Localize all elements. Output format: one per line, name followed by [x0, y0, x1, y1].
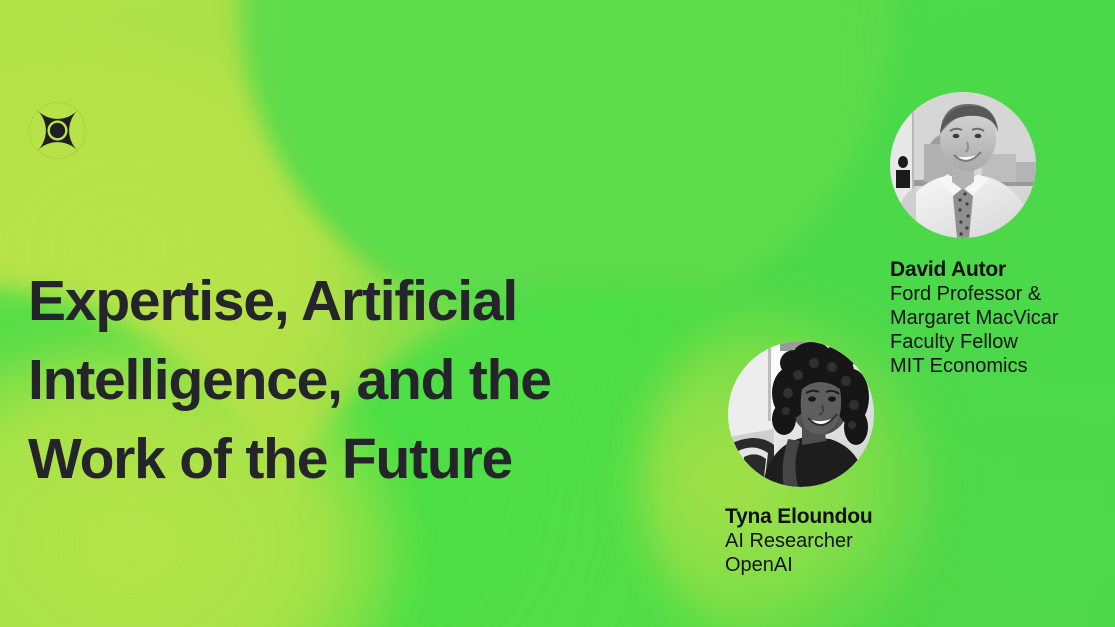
- speaker-meta-tyna-eloundou: Tyna Eloundou AI Researcher OpenAI: [725, 504, 874, 577]
- speaker-detail-3: Faculty Fellow: [890, 330, 1059, 354]
- avatar-david-autor: [890, 92, 1036, 238]
- title-line-1: Expertise, Artificial: [28, 262, 688, 341]
- speaker-detail-2: OpenAI: [725, 553, 874, 577]
- avatar-tyna-eloundou: [728, 341, 874, 487]
- speaker-meta-david-autor: David Autor Ford Professor & Margaret Ma…: [890, 257, 1059, 378]
- speaker-name: Tyna Eloundou: [725, 504, 874, 529]
- page-title: Expertise, Artificial Intelligence, and …: [28, 262, 688, 499]
- speaker-detail-1: AI Researcher: [725, 529, 874, 553]
- speaker-detail-4: MIT Economics: [890, 354, 1059, 378]
- speaker-detail-1: Ford Professor &: [890, 282, 1059, 306]
- speaker-name: David Autor: [890, 257, 1059, 282]
- speaker-card-david-autor: David Autor Ford Professor & Margaret Ma…: [888, 92, 1059, 378]
- four-petal-ring-logo-icon: [27, 100, 88, 161]
- title-line-3: Work of the Future: [28, 420, 688, 499]
- title-line-2: Intelligence, and the: [28, 341, 688, 420]
- speaker-detail-2: Margaret MacVicar: [890, 306, 1059, 330]
- promo-slide: Expertise, Artificial Intelligence, and …: [0, 0, 1115, 627]
- speaker-card-tyna-eloundou: Tyna Eloundou AI Researcher OpenAI: [725, 341, 874, 577]
